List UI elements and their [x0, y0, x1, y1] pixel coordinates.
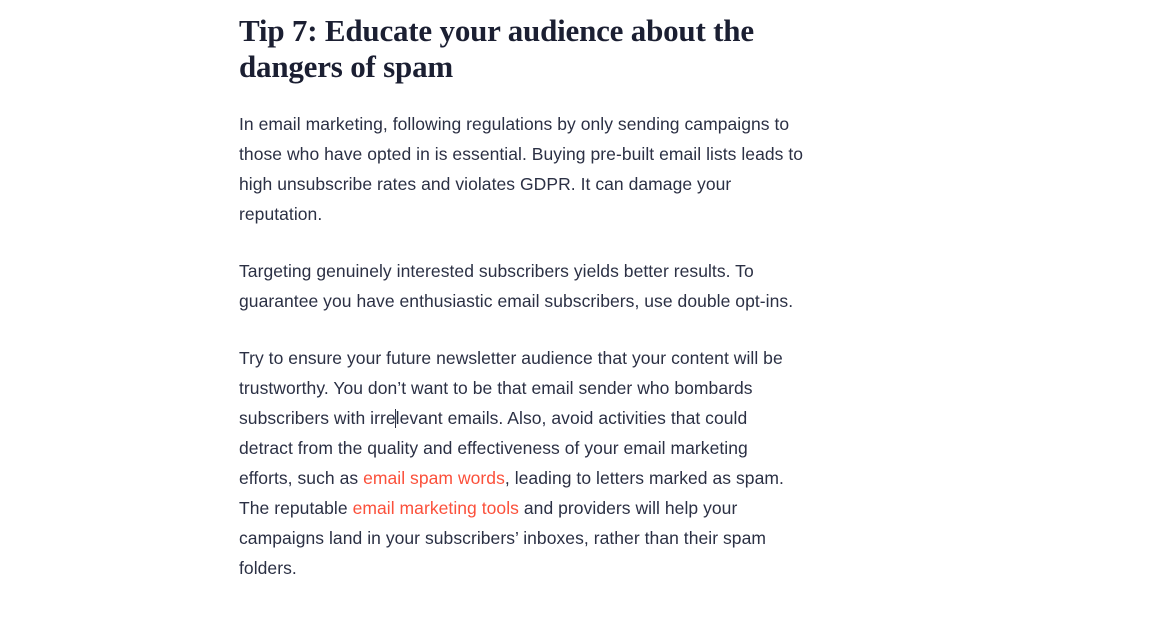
page-title: Tip 7: Educate your audience about the d… [239, 0, 814, 85]
paragraph-targeting: Targeting genuinely interested subscribe… [239, 256, 805, 316]
article-content: Tip 7: Educate your audience about the d… [239, 0, 805, 583]
link-email-spam-words[interactable]: email spam words [363, 468, 505, 488]
paragraph-intro: In email marketing, following regulation… [239, 109, 805, 229]
paragraph-trust: Try to ensure your future newsletter aud… [239, 343, 805, 583]
link-email-marketing-tools[interactable]: email marketing tools [353, 498, 519, 518]
